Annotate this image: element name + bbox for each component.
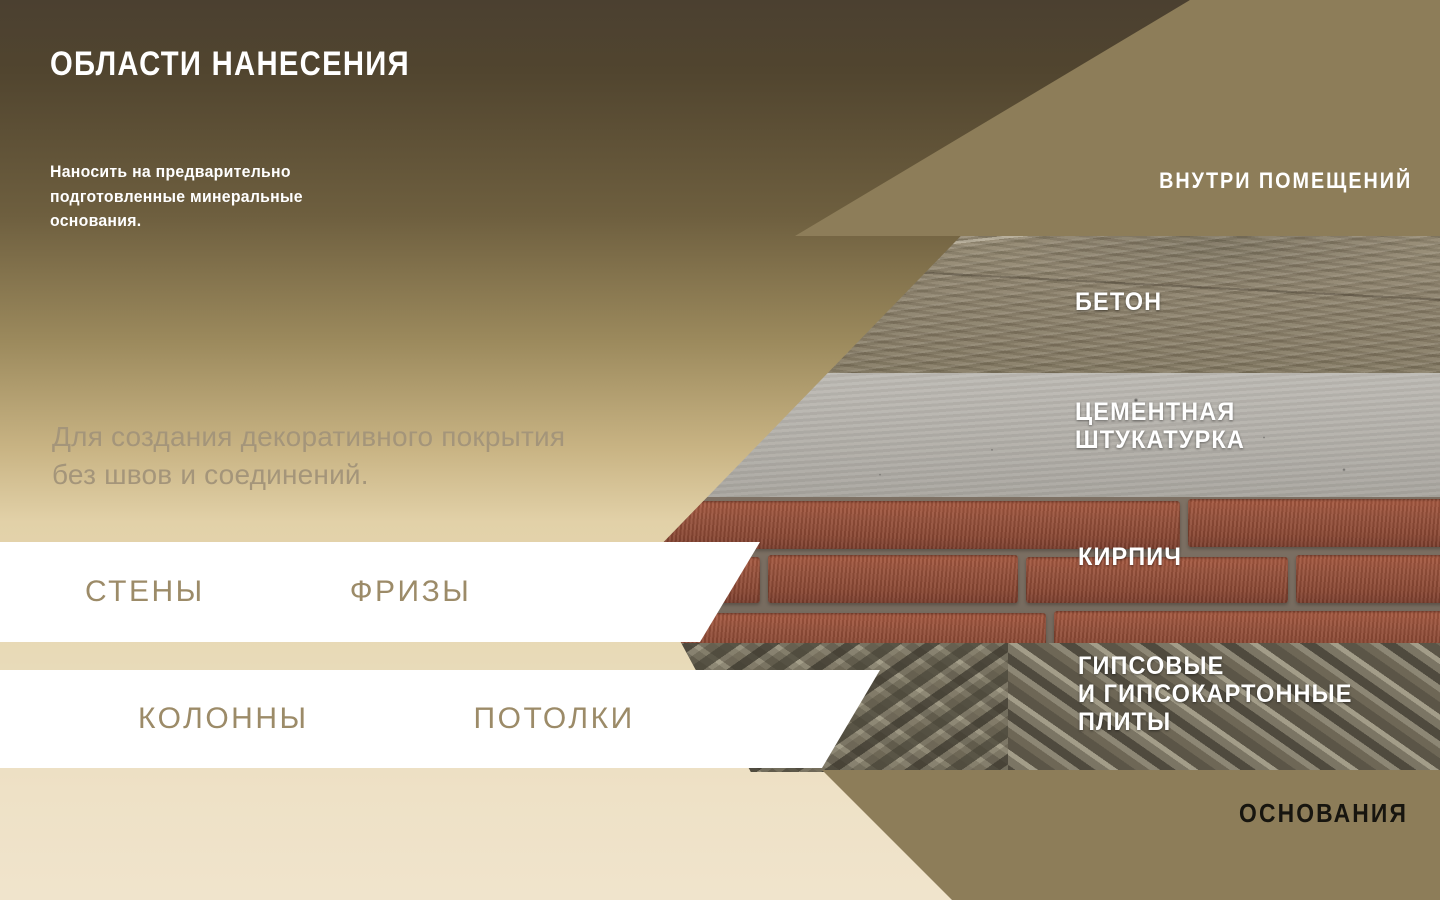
application-label-ceilings: ПОТОЛКИ <box>474 702 635 736</box>
panel-header-label: ВНУТРИ ПОМЕЩЕНИЙ <box>1159 168 1412 194</box>
subtitle-text: Наносить на предварительноподготовленные… <box>50 160 303 234</box>
body-text: Для создания декоративного покрытиябез ш… <box>52 418 565 494</box>
application-label-columns: КОЛОННЫ <box>138 702 309 736</box>
material-band-brick <box>640 497 1440 643</box>
application-label-walls: СТЕНЫ <box>85 575 205 609</box>
material-label-brick: КИРПИЧ <box>1078 543 1182 571</box>
page-title: ОБЛАСТИ НАНЕСЕНИЯ <box>50 45 410 84</box>
material-label-cement-plaster: ЦЕМЕНТНАЯШТУКАТУРКА <box>1075 398 1245 454</box>
panel-footer-label: ОСНОВАНИЯ <box>1239 798 1408 829</box>
application-bar-2: КОЛОННЫ ПОТОЛКИ <box>0 670 880 768</box>
application-bar-1: СТЕНЫ ФРИЗЫ <box>0 542 760 642</box>
slide-canvas: ОБЛАСТИ НАНЕСЕНИЯ Наносить на предварите… <box>0 0 1440 900</box>
material-label-gypsum-board: ГИПСОВЫЕИ ГИПСОКАРТОННЫЕПЛИТЫ <box>1078 652 1353 736</box>
application-label-friezes: ФРИЗЫ <box>350 575 472 609</box>
material-label-concrete: БЕТОН <box>1075 288 1162 316</box>
